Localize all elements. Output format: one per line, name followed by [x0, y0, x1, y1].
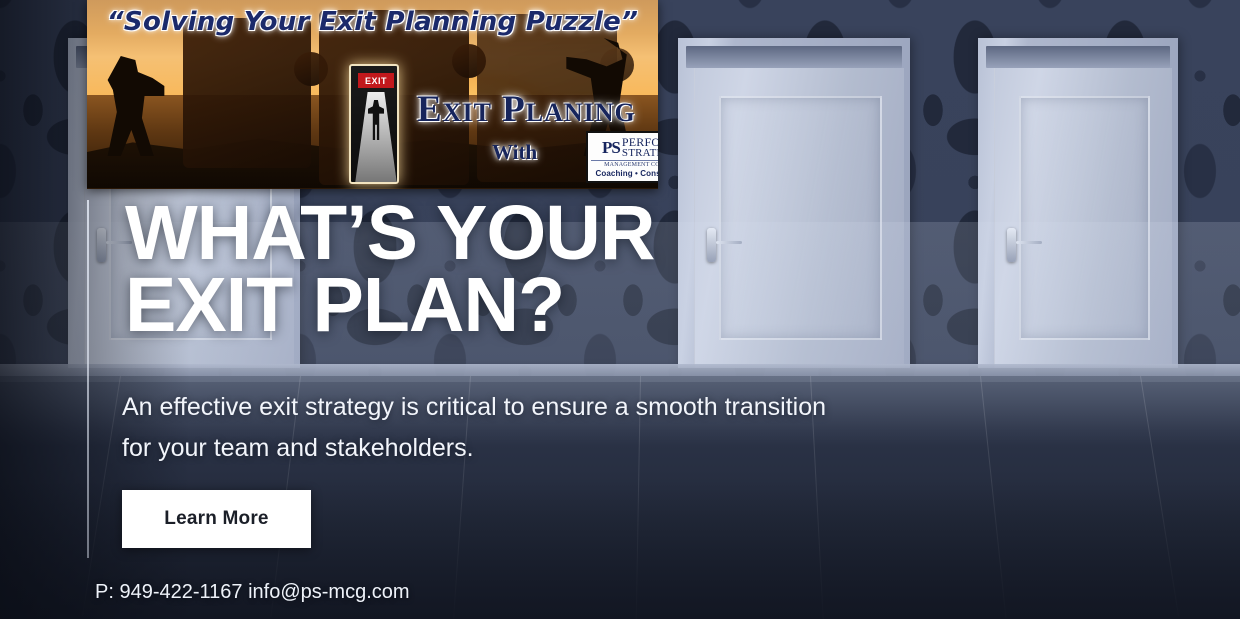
- door-right-panel: [1019, 96, 1150, 340]
- exit-sign-label: EXIT: [358, 73, 394, 88]
- hero-banner-page: “Solving Your Exit Planning Puzzle” EXIT…: [0, 0, 1240, 619]
- logo-line-strategies: STRATEGIES, LLC: [622, 148, 658, 159]
- banner-with-label: With: [492, 140, 537, 165]
- exit-sign-graphic: EXIT: [349, 64, 399, 184]
- vertical-accent-line: [87, 200, 89, 558]
- performance-strategies-logo[interactable]: PS PERFORMANCE STRATEGIES, LLC MANAGEMEN…: [586, 131, 658, 183]
- logo-top-row: PS PERFORMANCE STRATEGIES, LLC: [602, 136, 658, 159]
- door-center: [678, 38, 910, 368]
- subtitle-line-2: for your team and stakeholders.: [122, 428, 902, 469]
- door-left-handle-icon: [97, 228, 106, 262]
- contact-info[interactable]: P: 949-422-1167 info@ps-mcg.com: [95, 581, 410, 604]
- hero-subtitle: An effective exit strategy is critical t…: [122, 387, 902, 468]
- exit-planning-banner[interactable]: “Solving Your Exit Planning Puzzle” EXIT…: [87, 0, 658, 189]
- door-right: [978, 38, 1178, 368]
- puzzle-piece-left: [183, 18, 311, 168]
- logo-wordmark: PERFORMANCE STRATEGIES, LLC: [622, 136, 658, 159]
- headline-line-2: EXIT PLAN?: [125, 270, 654, 342]
- banner-exit-planing-title: Exit Planing: [417, 88, 636, 131]
- banner-tagline: “Solving Your Exit Planning Puzzle”: [87, 7, 658, 37]
- headline-line-1: WHAT’S YOUR: [125, 198, 654, 270]
- logo-line-management-consulting-group: MANAGEMENT CONSULTING GROUP: [591, 160, 658, 168]
- door-center-header: [686, 46, 902, 68]
- door-center-panel: [719, 96, 882, 340]
- door-right-handle-icon: [1007, 228, 1016, 262]
- logo-line-services: Coaching • Consulting • Training: [595, 169, 658, 178]
- learn-more-button[interactable]: Learn More: [122, 490, 311, 548]
- door-right-header: [986, 46, 1170, 68]
- subtitle-line-1: An effective exit strategy is critical t…: [122, 387, 902, 428]
- door-center-leaf: [694, 68, 904, 368]
- door-right-leaf: [994, 68, 1172, 368]
- logo-monogram-icon: PS: [602, 139, 620, 156]
- door-center-handle-icon: [707, 228, 716, 262]
- page-title: WHAT’S YOUR EXIT PLAN?: [125, 198, 654, 341]
